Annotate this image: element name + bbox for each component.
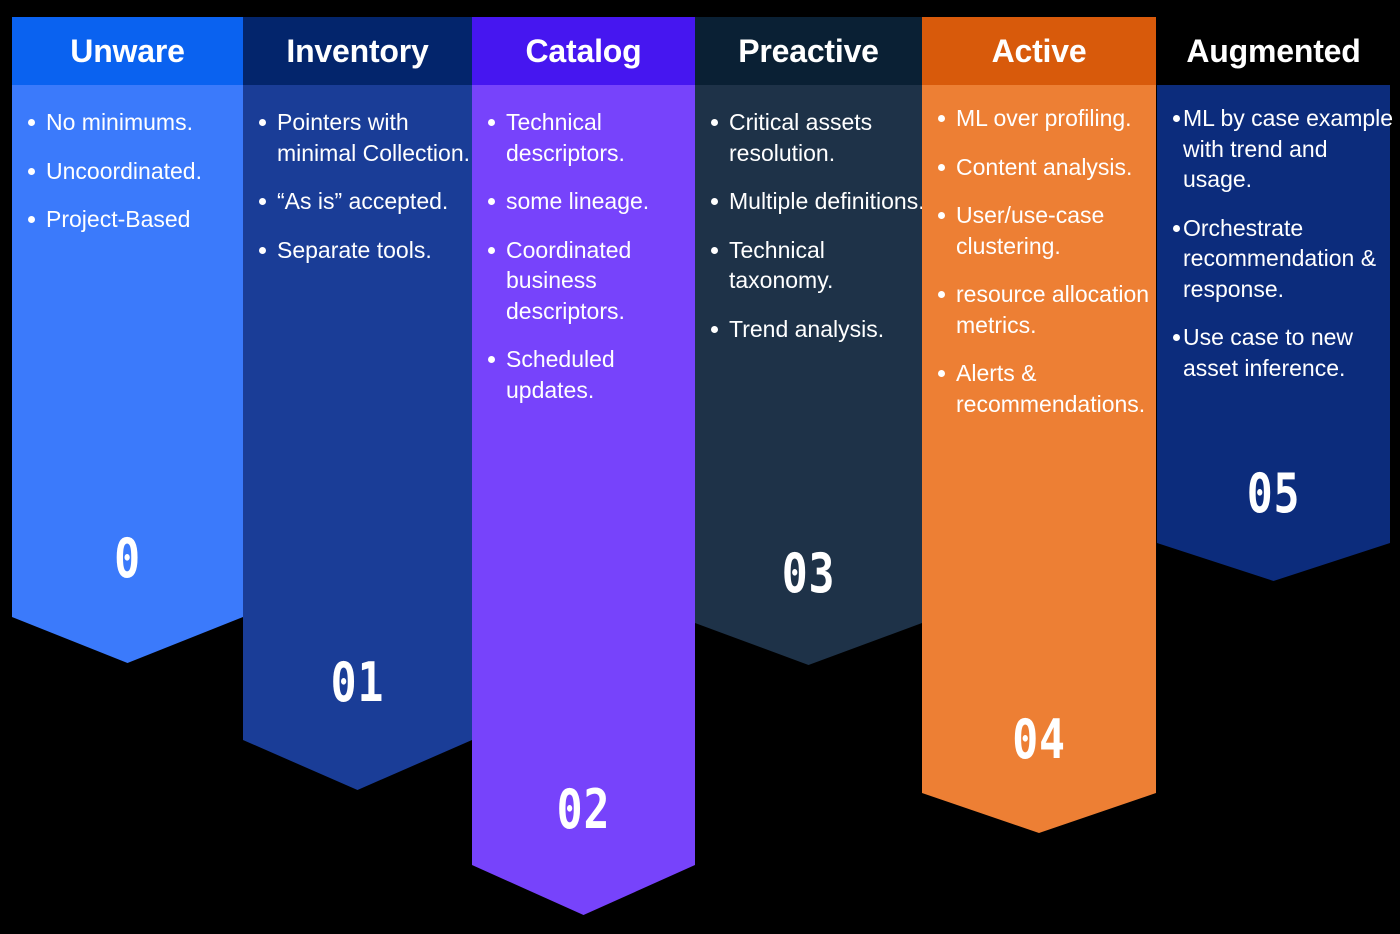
list-item: Pointers with minimal Collection. <box>243 107 484 168</box>
list-item: No minimums. <box>12 107 255 138</box>
stage-number-catalog: 02 <box>494 783 672 837</box>
stage-number-active: 04 <box>945 713 1132 767</box>
stage-number-unware: 0 <box>35 532 220 586</box>
stage-arrow-tip-active <box>922 793 1156 833</box>
stage-arrow-tip-augmented <box>1157 543 1390 581</box>
stage-banner-catalog[interactable]: Catalog Technical descriptors. some line… <box>472 17 695 915</box>
stage-banner-unware[interactable]: Unware No minimums. Uncoordinated. Proje… <box>12 17 243 663</box>
stage-title-preactive: Preactive <box>738 35 879 67</box>
list-item: Coordinated business descriptors. <box>472 235 707 327</box>
stage-arrow-tip-preactive <box>695 623 922 665</box>
stage-number-inventory: 01 <box>266 656 449 710</box>
stage-title-catalog: Catalog <box>526 35 642 67</box>
infographic-canvas: Unware No minimums. Uncoordinated. Proje… <box>0 0 1400 934</box>
stage-body-preactive: Critical assets resolution. Multiple def… <box>695 85 922 623</box>
stage-header-active: Active <box>922 17 1156 85</box>
list-item: Trend analysis. <box>695 314 934 345</box>
list-item: resource allocation metrics. <box>922 279 1178 340</box>
stage-body-inventory: Pointers with minimal Collection. “As is… <box>243 85 472 740</box>
list-item: ML over profiling. <box>922 103 1178 134</box>
list-item: Technical descriptors. <box>472 107 707 168</box>
list-item: “As is” accepted. <box>243 186 484 217</box>
stage-number-augmented: 05 <box>1180 467 1366 521</box>
stage-title-active: Active <box>992 35 1087 67</box>
stage-title-unware: Unware <box>70 35 184 67</box>
list-item: some lineage. <box>472 186 707 217</box>
list-item: Alerts & recommendations. <box>922 358 1178 419</box>
stage-arrow-tip-unware <box>12 617 243 663</box>
list-item: Critical assets resolution. <box>695 107 934 168</box>
stage-header-catalog: Catalog <box>472 17 695 85</box>
list-item: Project-Based <box>12 204 255 235</box>
list-item: Technical taxonomy. <box>695 235 934 296</box>
stage-header-inventory: Inventory <box>243 17 472 85</box>
stage-body-active: ML over profiling. Content analysis. Use… <box>922 85 1156 793</box>
list-item: User/use-case clustering. <box>922 200 1178 261</box>
list-item: Uncoordinated. <box>12 156 255 187</box>
stage-title-augmented: Augmented <box>1186 35 1360 67</box>
stage-bullet-list-augmented: ML by case example with trend and usage.… <box>1157 103 1398 402</box>
stage-body-unware: No minimums. Uncoordinated. Project-Base… <box>12 85 243 617</box>
stage-arrow-tip-catalog <box>472 865 695 915</box>
list-item: Multiple definitions. <box>695 186 934 217</box>
stage-body-catalog: Technical descriptors. some lineage. Coo… <box>472 85 695 865</box>
stage-bullet-list-preactive: Critical assets resolution. Multiple def… <box>695 107 934 362</box>
stage-body-augmented: ML by case example with trend and usage.… <box>1157 85 1390 543</box>
stage-bullet-list-active: ML over profiling. Content analysis. Use… <box>922 103 1178 438</box>
stage-bullet-list-catalog: Technical descriptors. some lineage. Coo… <box>472 107 707 424</box>
stage-header-unware: Unware <box>12 17 243 85</box>
list-item: Content analysis. <box>922 152 1178 183</box>
stage-header-preactive: Preactive <box>695 17 922 85</box>
stage-banner-active[interactable]: Active ML over profiling. Content analys… <box>922 17 1156 833</box>
stage-bullet-list-unware: No minimums. Uncoordinated. Project-Base… <box>12 107 255 253</box>
list-item: Use case to new asset inference. <box>1157 322 1398 383</box>
stage-title-inventory: Inventory <box>286 35 428 67</box>
stage-bullet-list-inventory: Pointers with minimal Collection. “As is… <box>243 107 484 283</box>
list-item: Scheduled updates. <box>472 344 707 405</box>
stage-banner-inventory[interactable]: Inventory Pointers with minimal Collecti… <box>243 17 472 790</box>
stage-header-augmented: Augmented <box>1157 17 1390 85</box>
stage-banner-preactive[interactable]: Preactive Critical assets resolution. Mu… <box>695 17 922 665</box>
list-item: Separate tools. <box>243 235 484 266</box>
list-item: Orchestrate recommendation & response. <box>1157 213 1398 305</box>
list-item: ML by case example with trend and usage. <box>1157 103 1398 195</box>
stage-arrow-tip-inventory <box>243 740 472 790</box>
stage-banner-augmented[interactable]: Augmented ML by case example with trend … <box>1157 17 1390 581</box>
stage-number-preactive: 03 <box>718 547 900 601</box>
